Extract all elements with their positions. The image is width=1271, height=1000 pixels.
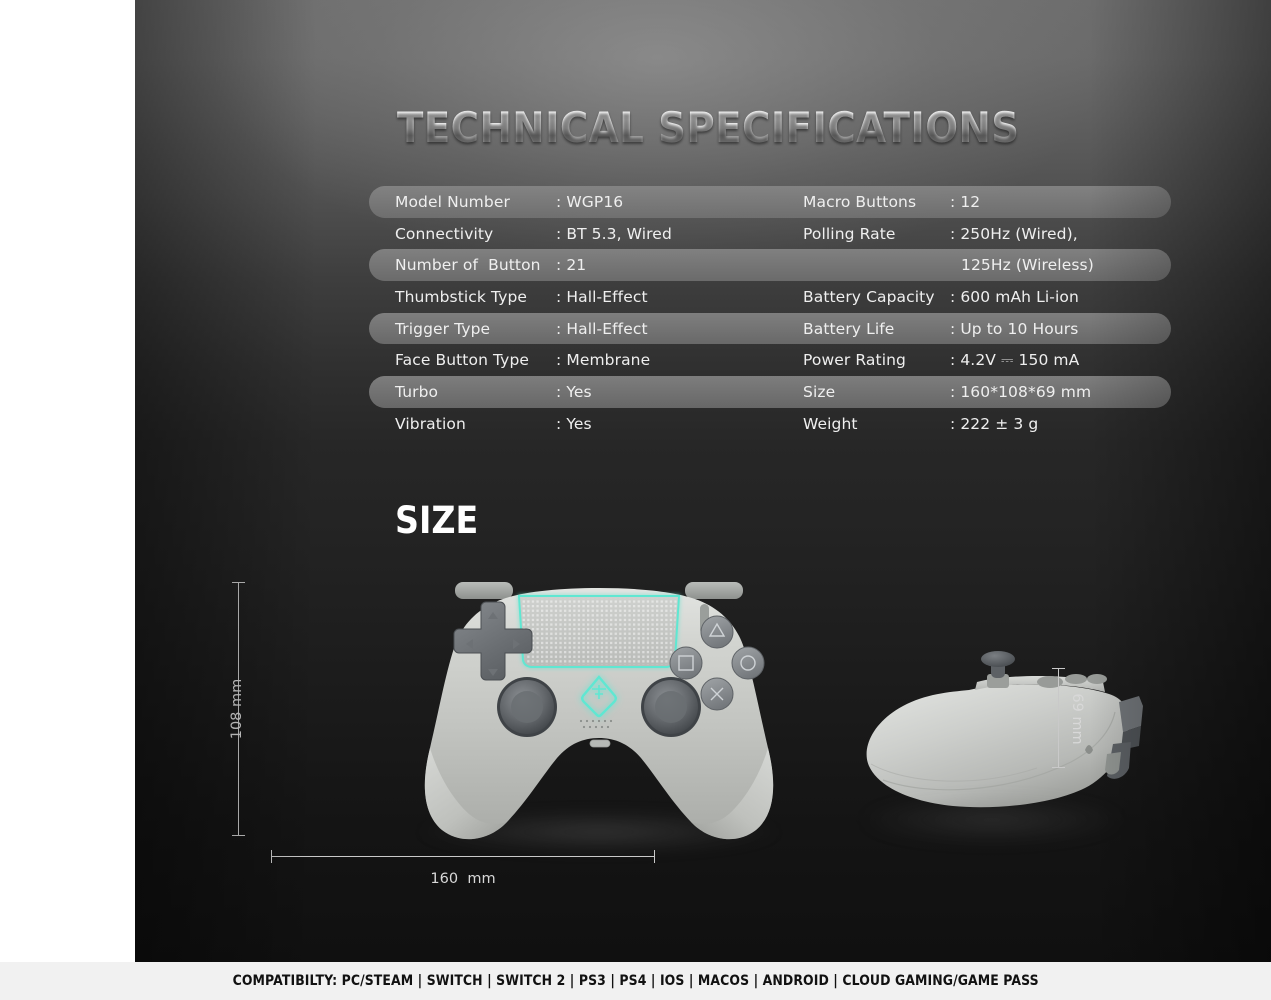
technical-specifications-table: Model Number : WGP16 Macro Buttons : 12 …	[369, 186, 1171, 440]
spec-label: Trigger Type	[395, 320, 490, 338]
right-thumbstick	[641, 677, 701, 737]
table-row: Turbo : Yes Size : 160*108*69 mm	[369, 376, 1171, 408]
spec-label: Battery Capacity	[803, 288, 935, 306]
spec-value: : BT 5.3, Wired	[556, 225, 672, 243]
table-row: Face Button Type : Membrane Power Rating…	[369, 344, 1171, 376]
depth-dimension-label: 69 mm	[1069, 679, 1085, 759]
square-button	[670, 647, 702, 679]
table-row: Trigger Type : Hall-Effect Battery Life …	[369, 313, 1171, 345]
table-row: Thumbstick Type : Hall-Effect Battery Ca…	[369, 281, 1171, 313]
spec-value: : 12	[950, 193, 980, 211]
controller-front-view	[403, 574, 795, 846]
spec-value: : Yes	[556, 415, 592, 433]
spec-value: : Membrane	[556, 351, 650, 369]
circle-button	[732, 647, 764, 679]
left-thumbstick	[497, 677, 557, 737]
side-face-button-1	[1037, 676, 1063, 688]
page-title: TECHNICAL SPECIFICATIONS	[397, 103, 1020, 152]
spec-label: Connectivity	[395, 225, 493, 243]
spec-value: : 600 mAh Li-ion	[950, 288, 1079, 306]
spec-label: Battery Life	[803, 320, 894, 338]
spec-sheet-page: TECHNICAL SPECIFICATIONS Model Number : …	[0, 0, 1271, 1000]
spec-label: Size	[803, 383, 835, 401]
table-row: Vibration : Yes Weight : 222 ± 3 g	[369, 408, 1171, 440]
spec-label: Macro Buttons	[803, 193, 916, 211]
touchpad-texture	[521, 598, 677, 665]
triangle-button	[701, 616, 733, 648]
spec-value: : Hall-Effect	[556, 288, 648, 306]
spec-label: Thumbstick Type	[395, 288, 527, 306]
controller-side-shadow	[857, 796, 1127, 844]
main-dark-panel: TECHNICAL SPECIFICATIONS Model Number : …	[135, 0, 1271, 962]
spec-label: Model Number	[395, 193, 510, 211]
spec-value: : 250Hz (Wired),	[950, 225, 1078, 243]
right-bumper	[685, 582, 743, 599]
spec-value-continuation: 125Hz (Wireless)	[961, 256, 1094, 274]
controller-front-illustration	[403, 582, 795, 844]
spec-label: Vibration	[395, 415, 466, 433]
spec-label: Power Rating	[803, 351, 906, 369]
spec-value: : WGP16	[556, 193, 623, 211]
spec-value: : 21	[556, 256, 586, 274]
spec-label: Turbo	[395, 383, 438, 401]
spec-value: : Hall-Effect	[556, 320, 648, 338]
spec-value: : 222 ± 3 g	[950, 415, 1038, 433]
left-bumper	[455, 582, 513, 599]
side-face-button-3	[1087, 674, 1107, 684]
compatibility-footer-bar: COMPATIBILTY: PC/STEAM | SWITCH | SWITCH…	[0, 962, 1271, 1000]
height-dimension-label: 108 mm	[229, 669, 245, 749]
controller-side-view	[857, 646, 1157, 836]
compatibility-text: COMPATIBILTY: PC/STEAM | SWITCH | SWITCH…	[232, 973, 1038, 989]
spec-value: : Up to 10 Hours	[950, 320, 1078, 338]
spec-label: Face Button Type	[395, 351, 529, 369]
spec-value: : 160*108*69 mm	[950, 383, 1091, 401]
spec-label: Polling Rate	[803, 225, 896, 243]
spec-value: : 4.2V ⎓ 150 mA	[950, 351, 1079, 370]
table-row: Model Number : WGP16 Macro Buttons : 12	[369, 186, 1171, 218]
spec-value: : Yes	[556, 383, 592, 401]
center-pill-button	[590, 740, 610, 747]
table-row: Connectivity : BT 5.3, Wired Polling Rat…	[369, 218, 1171, 250]
spec-label: Weight	[803, 415, 858, 433]
size-section-heading: SIZE	[395, 499, 478, 542]
spec-label: Number of Button	[395, 256, 541, 274]
width-dimension-label: 160 mm	[363, 871, 563, 887]
width-dimension-line	[271, 856, 655, 857]
depth-dimension-line	[1058, 668, 1059, 768]
table-row: Number of Button : 21 125Hz (Wireless)	[369, 249, 1171, 281]
